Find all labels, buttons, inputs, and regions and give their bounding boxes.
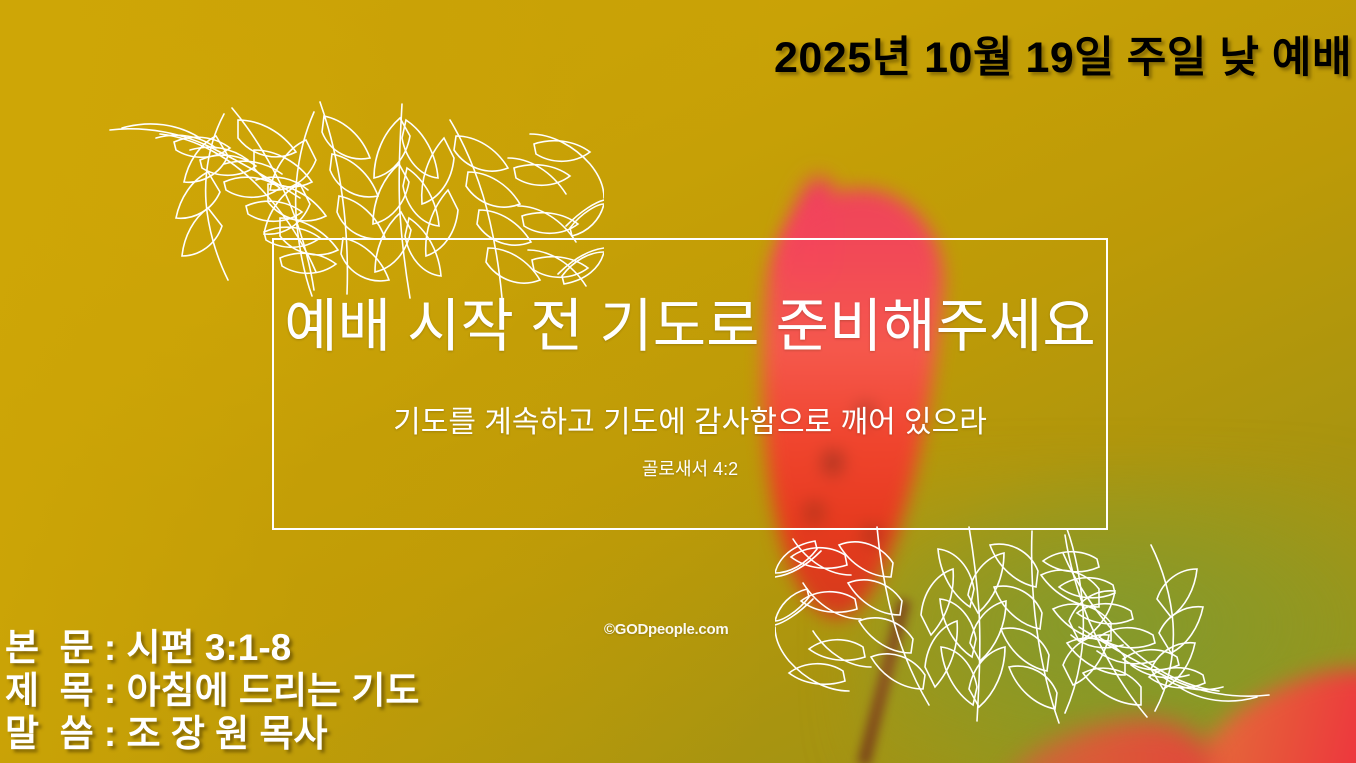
center-message-block: 예배 시작 전 기도로 준비해주세요 기도를 계속하고 기도에 감사함으로 깨어… <box>272 238 1108 530</box>
scripture-verse-reference: 골로새서 4:2 <box>642 455 738 481</box>
scripture-verse-text: 기도를 계속하고 기도에 감사함으로 깨어 있으라 <box>393 397 987 441</box>
main-title: 예배 시작 전 기도로 준비해주세요 <box>284 279 1096 363</box>
service-date-title: 2025년 10월 19일 주일 낮 예배 <box>774 23 1352 85</box>
watermark-godpeople: ©GODpeople.com <box>604 621 728 638</box>
worship-slide: 2025년 10월 19일 주일 낮 예배 <box>0 0 1356 763</box>
info-line-sermon-title: 제 목 : 아침에 드리는 기도 <box>5 669 419 712</box>
service-info-block: 본 문 : 시편 3:1-8 제 목 : 아침에 드리는 기도 말 씀 : 조 … <box>5 626 419 755</box>
info-line-preacher: 말 씀 : 조 장 원 목사 <box>5 712 419 755</box>
info-line-scripture: 본 문 : 시편 3:1-8 <box>5 626 419 669</box>
